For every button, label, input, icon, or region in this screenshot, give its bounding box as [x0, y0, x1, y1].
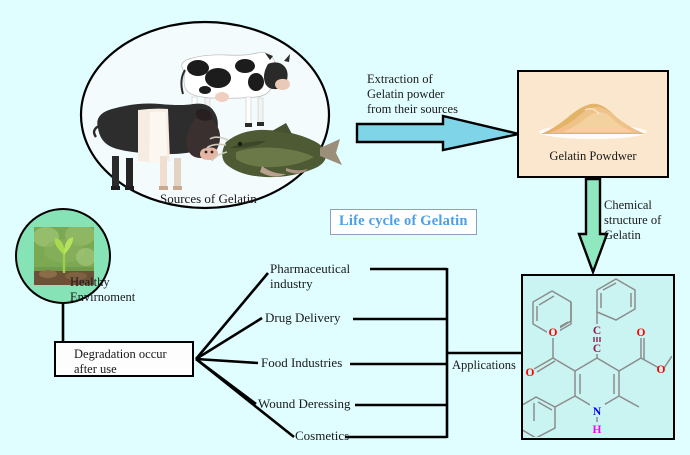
application-item-drug-delivery: Drug Delivery	[265, 311, 340, 326]
chemical-structure-arrow	[579, 179, 607, 272]
degradation-label: Degradation occur after use	[74, 347, 192, 377]
extraction-arrow	[357, 116, 519, 150]
application-bracket	[345, 268, 521, 438]
chemical-structure-box: O O O O C C N H	[521, 274, 675, 440]
atom-oxygen-ether-left: O	[549, 327, 558, 339]
application-item-food-industries: Food Industries	[261, 356, 342, 371]
application-item-cosmetics: Cosmetics	[295, 429, 349, 444]
atom-oxygen-ether-right: O	[657, 364, 666, 376]
degradation-box: Degradation occur after use	[54, 341, 194, 377]
gelatin-powder-mound-icon	[537, 94, 649, 140]
chemical-structure-arrow-label: Chemical structure of Gelatin	[604, 198, 661, 243]
gelatin-powder-label: Gelatin Powdwer	[519, 149, 667, 164]
gelatin-powder-box: Gelatin Powdwer	[517, 70, 669, 178]
atom-oxygen-carbonyl-left: O	[526, 367, 535, 379]
extraction-arrow-label: Extraction of Gelatin powder from their …	[367, 72, 458, 117]
atom-carbon-alkyne-lower: C	[593, 343, 601, 355]
atom-hydrogen: H	[593, 424, 602, 436]
healthy-environment-label: Healthy Envirnoment	[70, 275, 135, 305]
atom-carbon-alkyne-upper: C	[593, 325, 601, 337]
atom-oxygen-carbonyl-right: O	[637, 327, 646, 339]
page-title: Life cycle of Gelatin	[330, 209, 477, 235]
application-item-pharmaceutical-industry: Pharmaceutical industry	[270, 262, 350, 291]
sources-label: Sources of Gelatin	[160, 192, 257, 206]
application-item-wound-dressing: Wound Deressing	[258, 397, 350, 412]
gelatin-chemical-structure-diagram: O O O O C C N H	[523, 276, 672, 437]
atom-nitrogen: N	[593, 406, 602, 418]
applications-label: Applications	[452, 358, 516, 372]
diagram-canvas: Sources of Gelatin Extraction of Gelatin…	[0, 0, 690, 455]
